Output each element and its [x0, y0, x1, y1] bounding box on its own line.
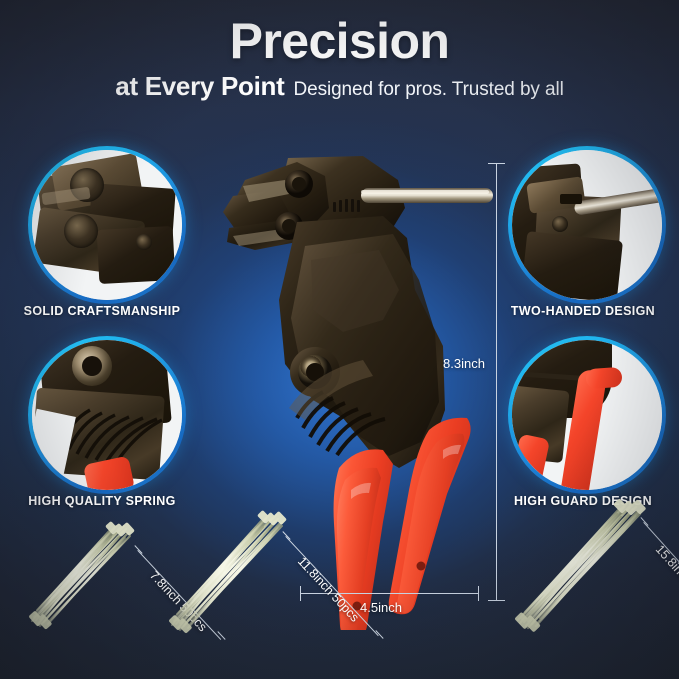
cable-tie-bundle-small: 7.8inch 50pcs [24, 520, 164, 650]
spring-closeup-photo [32, 340, 182, 490]
bundle-medium-ties [168, 508, 318, 653]
callout-solid-craftsmanship[interactable]: SOLID CRAFTSMANSHIP [28, 146, 186, 304]
subtitle-row: at Every Point Designed for pros. Truste… [0, 71, 679, 102]
jaw-closeup-photo [32, 150, 182, 300]
header: Precision at Every Point Designed for pr… [0, 16, 679, 102]
callout-two-handed-design[interactable]: TWO-HANDED DESIGN [508, 146, 666, 304]
callout-ring [28, 146, 186, 304]
callout-label-high-quality-spring: HIGH QUALITY SPRING [0, 494, 212, 508]
subtitle-light: Designed for pros. Trusted by all [293, 79, 563, 101]
guard-closeup-photo [512, 340, 662, 490]
callout-photo-high-guard-design [512, 340, 662, 490]
subtitle-bold: at Every Point [115, 71, 284, 102]
callout-high-quality-spring[interactable]: HIGH QUALITY SPRING [28, 336, 186, 494]
callout-label-two-handed-design: TWO-HANDED DESIGN [473, 304, 679, 318]
height-cap-top [488, 163, 505, 164]
height-label: 8.3inch [443, 356, 485, 371]
infographic-canvas: Precision at Every Point Designed for pr… [0, 0, 679, 679]
callout-ring [508, 336, 666, 494]
width-cap-right [478, 586, 479, 601]
cable-tie-bundle-medium: 11.8inch 50pcs [168, 508, 318, 653]
bundle-large-ties [512, 498, 672, 658]
callout-ring [508, 146, 666, 304]
callout-high-guard-design[interactable]: HIGH GUARD DESIGN [508, 336, 666, 494]
callout-ring [28, 336, 186, 494]
callout-photo-two-handed-design [512, 150, 662, 300]
height-cap-bottom [488, 600, 505, 601]
lever-closeup-photo [512, 150, 662, 300]
callout-photo-high-quality-spring [32, 340, 182, 490]
width-label: 4.5inch [360, 600, 402, 615]
height-line [496, 163, 497, 600]
callout-photo-solid-craftsmanship [32, 150, 182, 300]
page-title: Precision [0, 16, 679, 67]
callout-label-solid-craftsmanship: SOLID CRAFTSMANSHIP [0, 304, 212, 318]
bundle-small-ties [24, 520, 164, 650]
cable-tie-bundle-large: 15.8inch 50pcs [512, 498, 672, 658]
